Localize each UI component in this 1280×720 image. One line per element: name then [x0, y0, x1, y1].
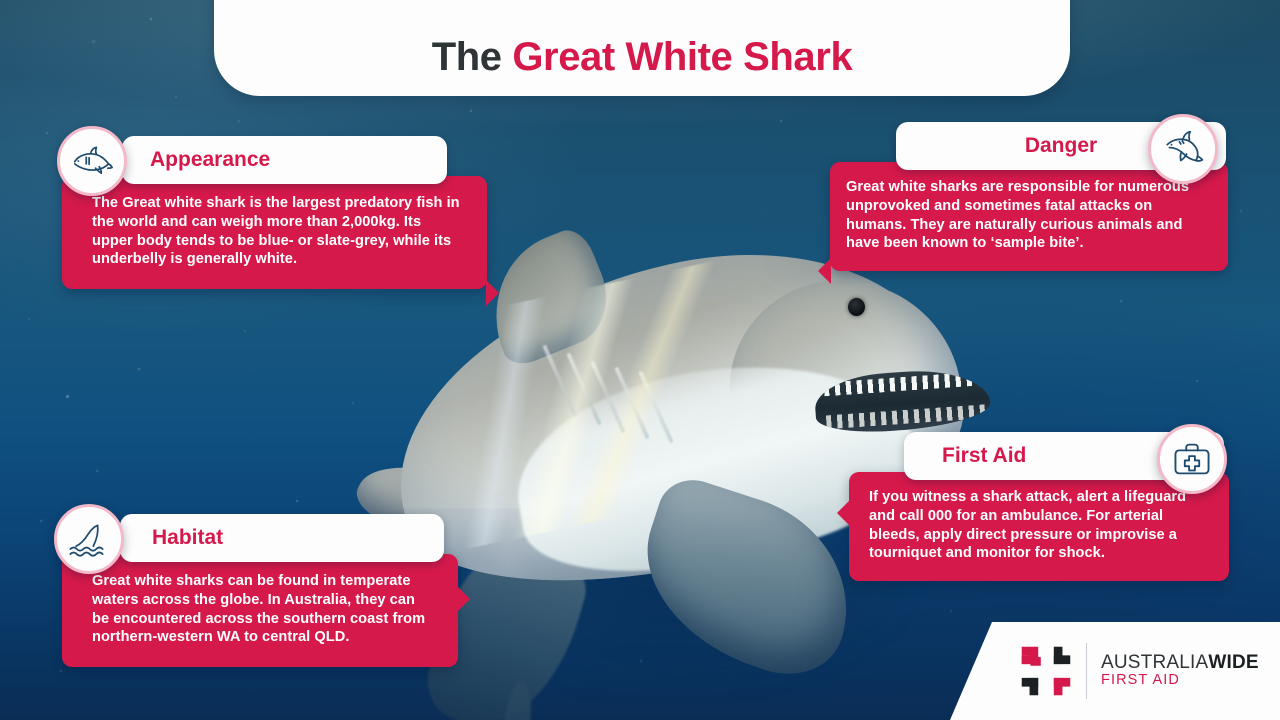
logo-wordmark: AUSTRALIAWIDE FIRST AID	[1101, 653, 1259, 689]
card-habitat[interactable]: Habitat Great white sharks can be found …	[62, 514, 458, 667]
first-aid-kit-icon	[1157, 424, 1227, 494]
card-appearance-header: Appearance	[122, 136, 447, 184]
card-danger-title: Danger	[1025, 134, 1097, 158]
logo-line-primary: AUSTRALIAWIDE	[1101, 653, 1259, 674]
water-particle	[150, 18, 152, 20]
callout-pointer	[818, 258, 831, 284]
four-quadrant-cross-icon	[1020, 645, 1072, 697]
water-particle	[1196, 380, 1198, 382]
card-appearance-body: The Great white shark is the largest pre…	[62, 176, 487, 289]
water-particle	[296, 500, 298, 502]
callout-pointer	[837, 500, 850, 526]
water-particle	[46, 132, 48, 134]
logo-divider	[1086, 643, 1087, 699]
card-first-aid-text: If you witness a shark attack, alert a l…	[869, 488, 1211, 563]
page-title-accent: Great White Shark	[512, 35, 852, 79]
water-particle	[1120, 300, 1122, 302]
card-habitat-text: Great white sharks can be found in tempe…	[92, 572, 436, 647]
water-particle	[96, 470, 98, 472]
card-first-aid-title: First Aid	[942, 444, 1026, 468]
shark-fin-waves-icon	[54, 504, 124, 574]
water-particle	[92, 40, 95, 43]
card-habitat-body: Great white sharks can be found in tempe…	[62, 554, 458, 667]
card-habitat-title: Habitat	[152, 526, 223, 550]
water-particle	[1240, 210, 1242, 212]
infographic-canvas: The Great White Shark Appearance The Gre…	[0, 0, 1280, 720]
water-particle	[138, 368, 140, 370]
page-title-prefix: The	[432, 35, 513, 79]
card-appearance-title: Appearance	[150, 148, 270, 172]
water-particle	[780, 120, 782, 122]
water-particle	[175, 96, 177, 98]
callout-pointer	[457, 586, 470, 612]
card-appearance[interactable]: Appearance The Great white shark is the …	[62, 136, 487, 289]
shark-teeth-lower	[826, 404, 987, 429]
shark-side-icon	[57, 126, 127, 196]
logo-australia-text: AUSTRALIA	[1101, 652, 1208, 673]
logo-line-secondary: FIRST AID	[1101, 673, 1259, 689]
card-danger-text: Great white sharks are responsible for n…	[846, 178, 1204, 253]
card-danger[interactable]: Danger Great white sharks are responsibl…	[830, 122, 1228, 271]
shark-eye	[848, 298, 865, 316]
card-first-aid[interactable]: First Aid If you witness a shark attack,…	[849, 432, 1229, 581]
logo-wide-text: WIDE	[1208, 652, 1258, 673]
water-particle	[60, 670, 62, 672]
water-particle	[470, 110, 472, 112]
water-particle	[238, 120, 240, 122]
card-appearance-text: The Great white shark is the largest pre…	[92, 194, 465, 269]
water-particle	[40, 520, 42, 522]
water-particle	[66, 395, 69, 398]
shark-leaping-icon	[1148, 114, 1218, 184]
page-title: The Great White Shark	[432, 35, 853, 80]
title-banner: The Great White Shark	[214, 0, 1070, 96]
water-particle	[28, 318, 30, 320]
callout-pointer	[486, 280, 499, 306]
brand-logo-panel[interactable]: AUSTRALIAWIDE FIRST AID	[950, 622, 1280, 720]
water-particle	[244, 330, 246, 332]
card-habitat-header: Habitat	[120, 514, 444, 562]
